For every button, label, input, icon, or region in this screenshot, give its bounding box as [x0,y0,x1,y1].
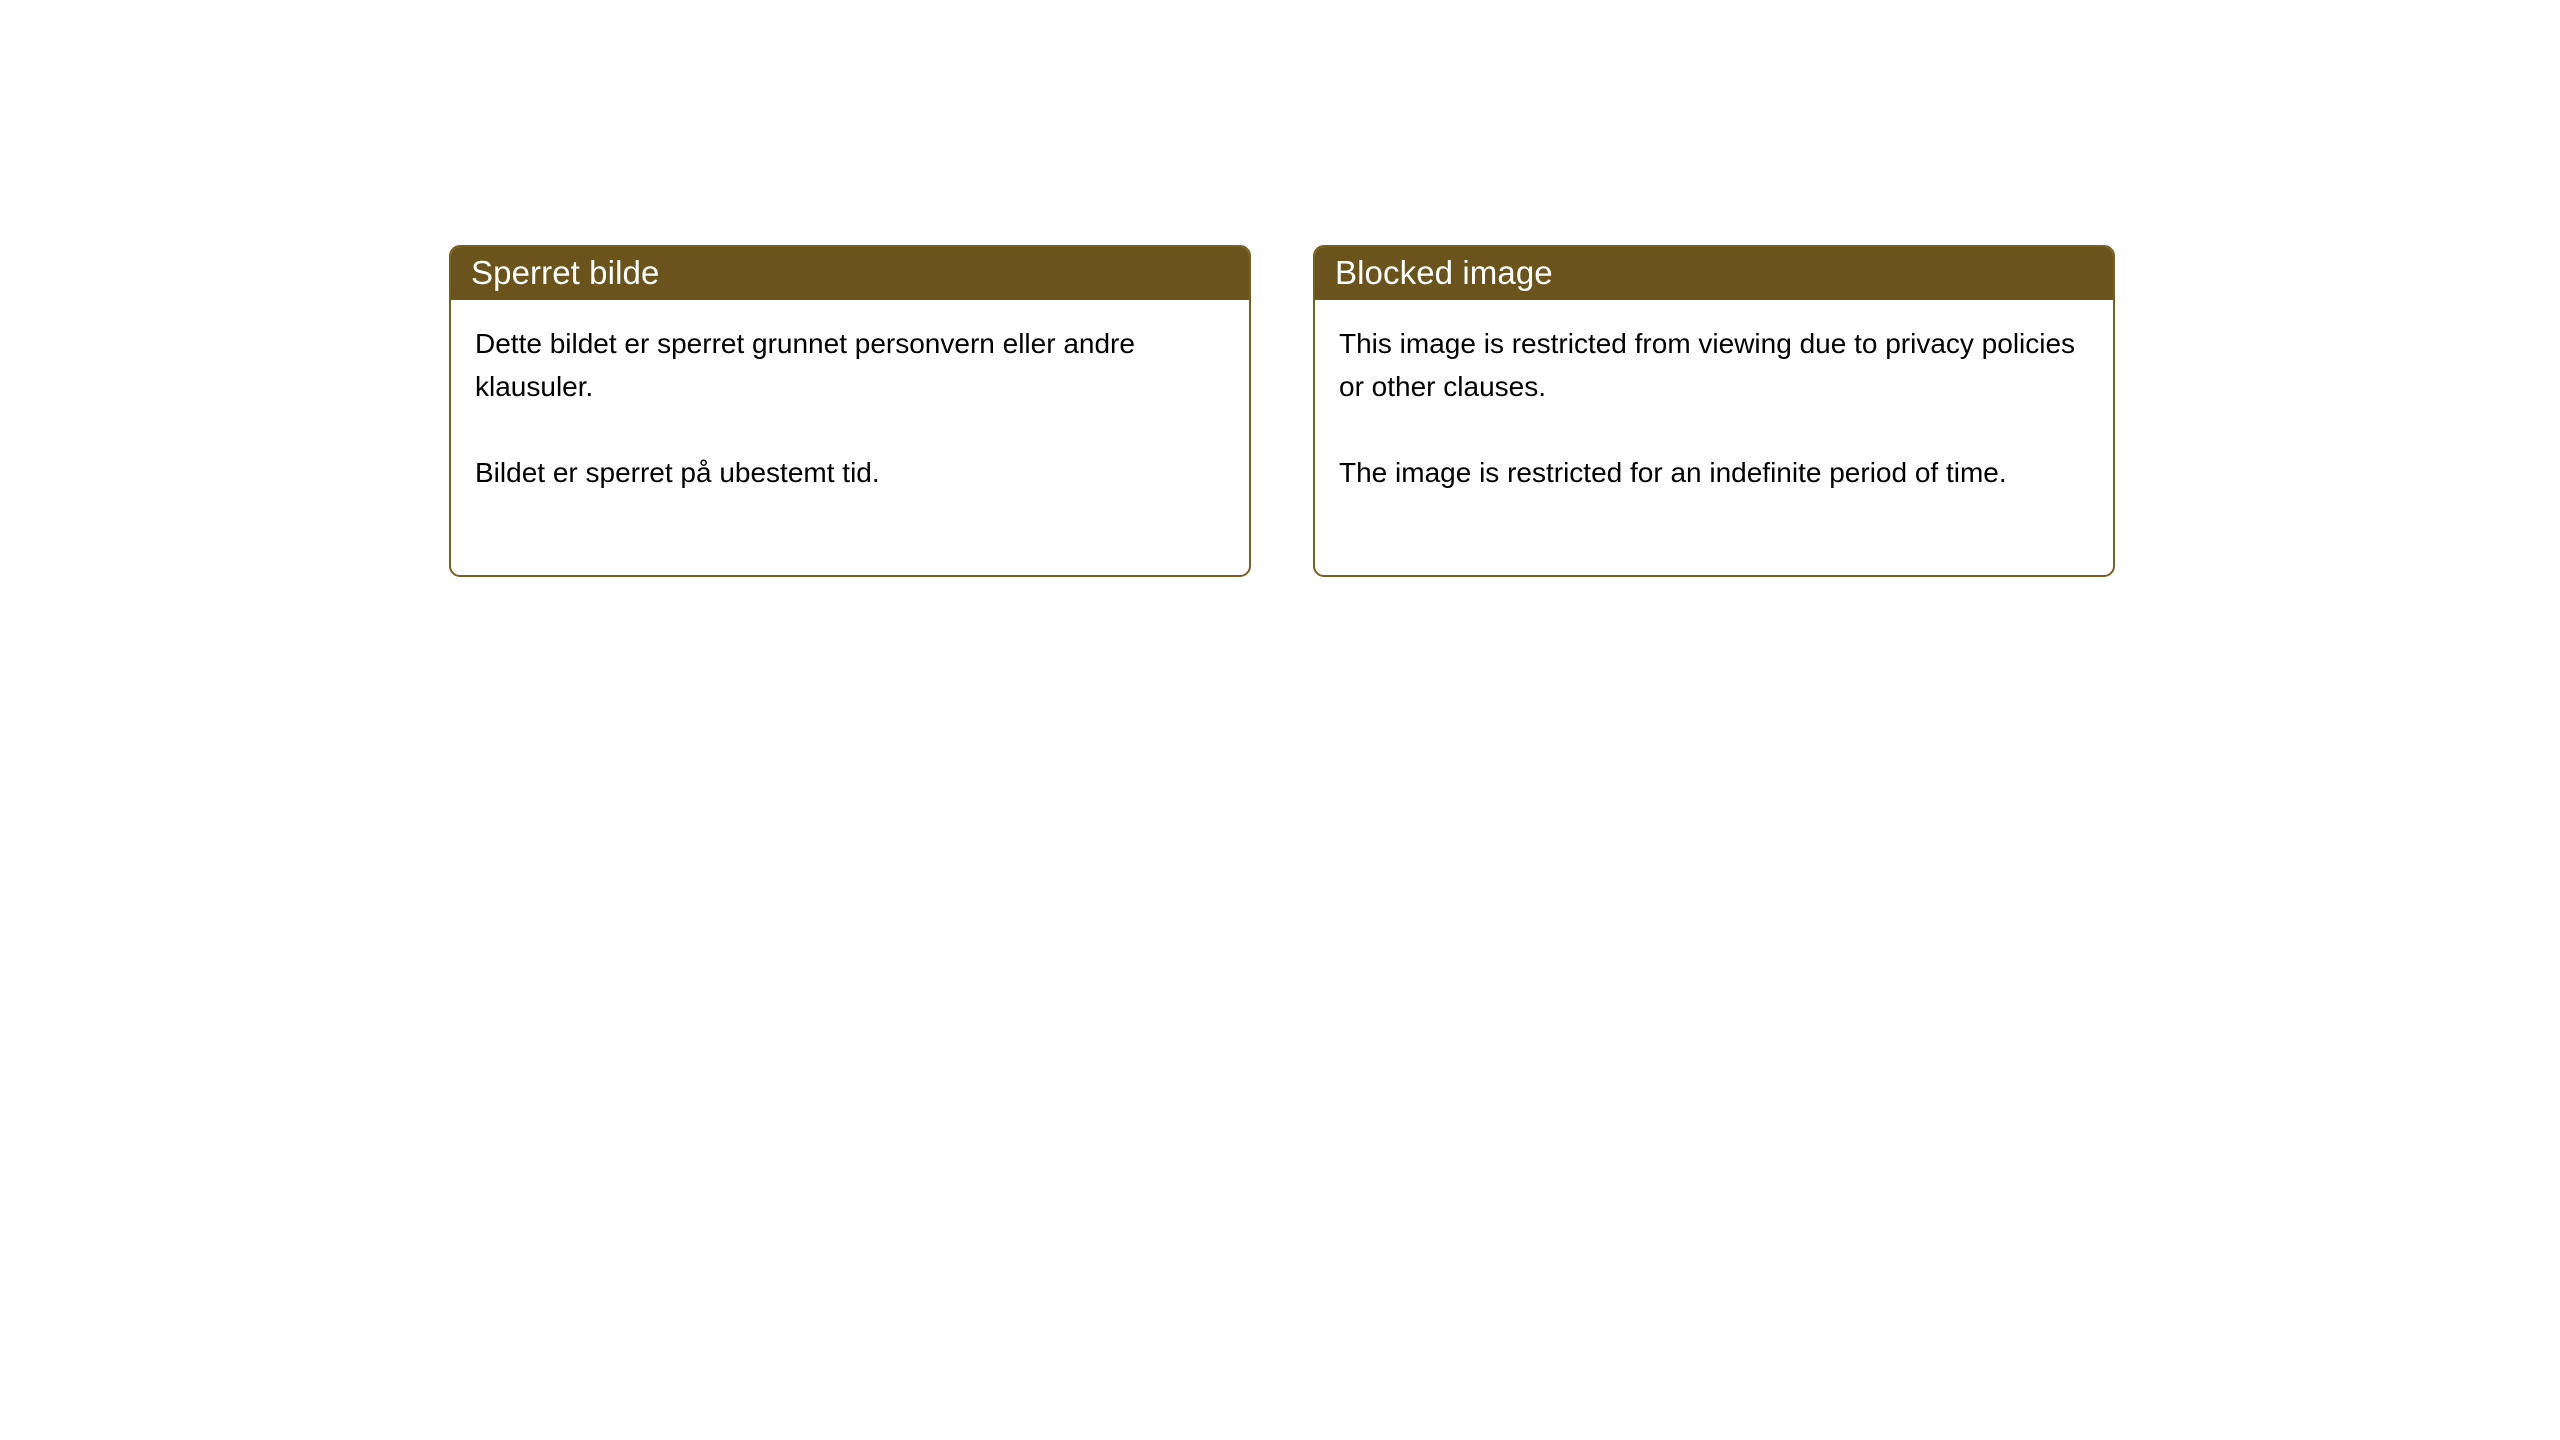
blocked-image-notices: Sperret bilde Dette bildet er sperret gr… [449,245,2115,577]
panel-paragraph-primary-english: This image is restricted from viewing du… [1339,322,2087,408]
panel-body-norwegian: Dette bildet er sperret grunnet personve… [451,300,1249,575]
panel-header-norwegian: Sperret bilde [449,245,1251,300]
blocked-image-panel-norwegian: Sperret bilde Dette bildet er sperret gr… [449,245,1251,577]
panel-paragraph-primary-norwegian: Dette bildet er sperret grunnet personve… [475,322,1223,408]
panel-title-english: Blocked image [1335,256,1553,289]
blocked-image-panel-english: Blocked image This image is restricted f… [1313,245,2115,577]
panel-title-norwegian: Sperret bilde [471,256,659,289]
panel-body-english: This image is restricted from viewing du… [1315,300,2113,575]
panel-paragraph-secondary-norwegian: Bildet er sperret på ubestemt tid. [475,451,1223,494]
panel-header-english: Blocked image [1313,245,2115,300]
panel-paragraph-secondary-english: The image is restricted for an indefinit… [1339,451,2087,494]
